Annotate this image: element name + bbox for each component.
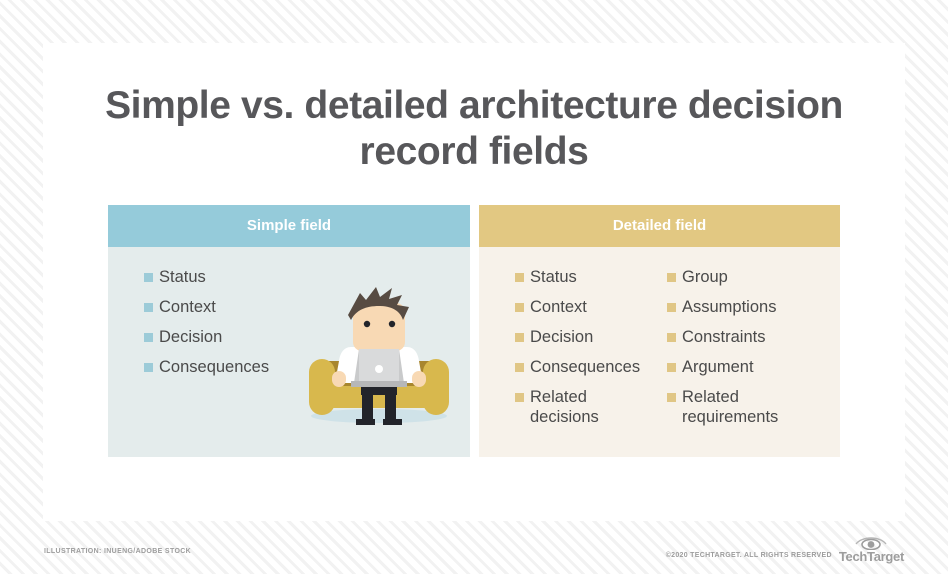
eye-pupil (868, 541, 875, 548)
list-item: Related decisions (515, 387, 655, 427)
list-item: Context (515, 297, 655, 317)
bullet-square-icon (667, 393, 676, 402)
list-item-label: Context (530, 297, 587, 317)
list-item: Status (515, 267, 655, 287)
illustration-credit: ILLUSTRATION: INUENG/ADOBE STOCK (44, 548, 191, 555)
eye-left (364, 321, 370, 327)
floor-shadow (311, 409, 447, 423)
detailed-field-list-column-1: Status Context Decision Consequence (515, 267, 655, 437)
list-item-label: Consequences (159, 357, 269, 377)
bullet-square-icon (515, 303, 524, 312)
list-item-label: Decision (530, 327, 593, 347)
bullet-square-icon (667, 303, 676, 312)
bullet-square-icon (144, 333, 153, 342)
sofa-arm-left (309, 359, 335, 415)
bullet-square-icon (144, 273, 153, 282)
page-title: Simple vs. detailed architecture decisio… (103, 83, 845, 175)
list-item-label: Constraints (682, 327, 765, 347)
hand-left (332, 371, 346, 387)
shoe-left (356, 419, 375, 425)
sofa-arm-right (423, 359, 449, 415)
list-item-label: Related requirements (682, 387, 817, 427)
footer-branding: ©2020 TECHTARGET. ALL RIGHTS RESERVED Te… (666, 533, 904, 563)
detailed-field-list-column-2: Group Assumptions Constraints Argum (667, 267, 817, 437)
list-item: Decision (515, 327, 655, 347)
panel-simple-field: Simple field Status Context (108, 205, 470, 457)
copyright-notice: ©2020 TECHTARGET. ALL RIGHTS RESERVED (666, 552, 832, 563)
list-item-label: Consequences (530, 357, 640, 377)
list-item: Group (667, 267, 817, 287)
panel-detailed-header: Detailed field (479, 205, 840, 247)
list-item: Assumptions (667, 297, 817, 317)
bullet-square-icon (515, 393, 524, 402)
list-item-label: Group (682, 267, 728, 287)
list-item-label: Assumptions (682, 297, 776, 317)
bullet-square-icon (144, 363, 153, 372)
shoe-right (383, 419, 402, 425)
panel-simple-body: Status Context Decision Consequence (108, 247, 470, 457)
list-item: Consequences (515, 357, 655, 377)
infographic-canvas: Simple vs. detailed architecture decisio… (0, 0, 948, 574)
list-item-label: Status (530, 267, 577, 287)
content-card: Simple vs. detailed architecture decisio… (43, 43, 905, 521)
bullet-square-icon (515, 363, 524, 372)
bullet-square-icon (515, 333, 524, 342)
list-item-label: Argument (682, 357, 754, 377)
bullet-square-icon (667, 363, 676, 372)
list-item: Argument (667, 357, 817, 377)
list-item-label: Decision (159, 327, 222, 347)
panel-detailed-body: Status Context Decision Consequence (479, 247, 840, 457)
laptop-base (351, 381, 407, 387)
list-item-label: Context (159, 297, 216, 317)
bullet-square-icon (144, 303, 153, 312)
eye-right (389, 321, 395, 327)
list-item-label: Status (159, 267, 206, 287)
man-with-laptop-on-sofa-illustration (304, 283, 454, 431)
comparison-panels: Simple field Status Context (108, 205, 840, 457)
logo-wordmark: TechTarget (839, 550, 904, 563)
laptop-logo (375, 365, 383, 373)
list-item-label: Related decisions (530, 387, 655, 427)
panel-simple-header: Simple field (108, 205, 470, 247)
eye-icon (854, 535, 888, 550)
bullet-square-icon (667, 333, 676, 342)
panel-detailed-field: Detailed field Status Context (479, 205, 840, 457)
techtarget-logo: TechTarget (839, 535, 904, 563)
hand-right (412, 371, 426, 387)
list-item: Related requirements (667, 387, 817, 427)
bullet-square-icon (667, 273, 676, 282)
bullet-square-icon (515, 273, 524, 282)
list-item: Constraints (667, 327, 817, 347)
